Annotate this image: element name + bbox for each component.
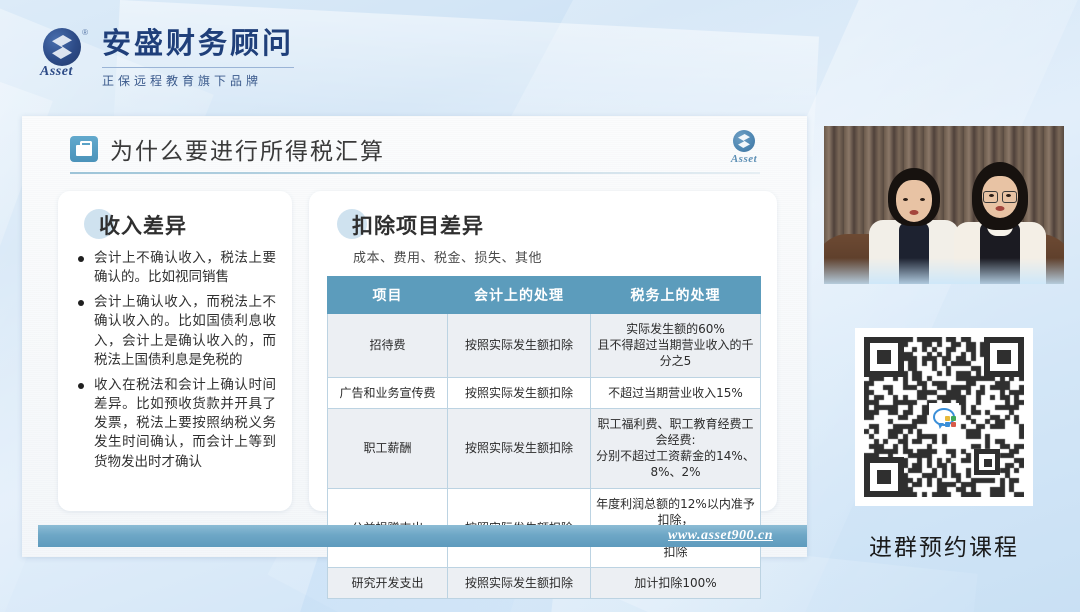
presenter-face — [896, 180, 932, 222]
pinwheel-icon — [43, 28, 81, 66]
column-header: 会计上的处理 — [448, 277, 591, 314]
brand-text-block: 安盛财务顾问 正保远程教育旗下品牌 — [102, 20, 294, 89]
qr-finder-top-right — [984, 337, 1024, 377]
table-row: 职工薪酬 按照实际发生额扣除 职工福利费、职工教育经费工会经费:分别不超过工资薪… — [328, 408, 761, 488]
glasses-icon — [982, 191, 1018, 202]
brand-chinese-name: 安盛财务顾问 — [102, 20, 294, 62]
mouth-icon — [996, 206, 1005, 211]
right-card-heading: 扣除项目差异 — [327, 214, 484, 238]
list-item: 收入在税法和会计上确认时间差异。比如预收货款并开具了发票，税法上要按照纳税义务发… — [74, 376, 276, 472]
cell-tax: 职工福利费、职工教育经费工会经费:分别不超过工资薪金的14%、8%、2% — [591, 408, 761, 488]
cell-tax: 实际发生额的60%且不得超过当期营业收入的千分之5 — [591, 314, 761, 378]
presenter-video[interactable] — [824, 126, 1064, 284]
brand-logo: ® Asset — [40, 28, 86, 80]
color-dots-icon — [945, 416, 956, 427]
qr-finder-bottom-left — [864, 457, 904, 497]
column-header: 项目 — [328, 277, 448, 314]
eye-icon — [903, 198, 908, 201]
slide-footer-bar: www.asset900.cn — [38, 525, 807, 547]
video-bottom-glow — [824, 258, 1064, 284]
qr-code[interactable] — [855, 328, 1033, 506]
card-heading-row: 扣除项目差异 — [327, 209, 761, 243]
cell-accounting: 按照实际发生额扣除 — [448, 377, 591, 408]
table-row: 广告和业务宣传费 按照实际发生额扣除 不超过当期营业收入15% — [328, 377, 761, 408]
briefcase-icon — [70, 136, 98, 162]
eye-icon — [920, 198, 925, 201]
title-underline — [70, 172, 760, 174]
brand-latin-name: Asset — [40, 64, 73, 80]
chat-bubble-icon — [933, 408, 955, 426]
right-card-subtitle: 成本、费用、税金、损失、其他 — [327, 247, 761, 266]
footer-url[interactable]: www.asset900.cn — [668, 525, 773, 547]
column-header: 税务上的处理 — [591, 277, 761, 314]
cell-accounting: 按照实际发生额扣除 — [448, 568, 591, 599]
qr-center-logo — [929, 403, 959, 431]
presentation-slide: 为什么要进行所得税汇算 Asset 收入差异 会计上不确认收入，税法上要确认的。… — [22, 116, 807, 557]
qr-alignment-pattern — [974, 449, 1000, 475]
qr-caption: 进群预约课程 — [824, 528, 1064, 562]
registered-mark: ® — [82, 28, 88, 37]
slide-title: 为什么要进行所得税汇算 — [110, 132, 385, 166]
brand-divider — [102, 67, 294, 68]
cell-tax: 不超过当期营业收入15% — [591, 377, 761, 408]
brand-header: ® Asset 安盛财务顾问 正保远程教育旗下品牌 — [0, 0, 1080, 108]
cell-tax: 加计扣除100% — [591, 568, 761, 599]
table-body: 招待费 按照实际发生额扣除 实际发生额的60%且不得超过当期营业收入的千分之5 … — [328, 314, 761, 599]
deduction-table: 项目 会计上的处理 税务上的处理 招待费 按照实际发生额扣除 实际发生额的60%… — [327, 276, 761, 599]
income-difference-bullets: 会计上不确认收入，税法上要确认的。比如视同销售 会计上确认收入，而税法上不确认收… — [74, 249, 276, 472]
cell-item: 职工薪酬 — [328, 408, 448, 488]
slide-title-row: 为什么要进行所得税汇算 — [70, 127, 787, 171]
slide-content: 收入差异 会计上不确认收入，税法上要确认的。比如视同销售 会计上确认收入，而税法… — [58, 191, 777, 511]
cell-accounting: 按照实际发生额扣除 — [448, 314, 591, 378]
table-row: 研究开发支出 按照实际发生额扣除 加计扣除100% — [328, 568, 761, 599]
qr-matrix — [864, 337, 1024, 497]
income-difference-card: 收入差异 会计上不确认收入，税法上要确认的。比如视同销售 会计上确认收入，而税法… — [58, 191, 292, 511]
slide-corner-logo-text: Asset — [717, 153, 771, 165]
cell-item: 广告和业务宣传费 — [328, 377, 448, 408]
table-header-row: 项目 会计上的处理 税务上的处理 — [328, 277, 761, 314]
cell-item: 研究开发支出 — [328, 568, 448, 599]
deduction-difference-card: 扣除项目差异 成本、费用、税金、损失、其他 项目 会计上的处理 税务上的处理 招… — [309, 191, 777, 511]
list-item: 会计上确认收入，而税法上不确认收入的。比如国债利息收入，会计上是确认收入的，而税… — [74, 293, 276, 370]
card-heading-row: 收入差异 — [74, 209, 276, 243]
cell-item: 招待费 — [328, 314, 448, 378]
table-row: 招待费 按照实际发生额扣除 实际发生额的60%且不得超过当期营业收入的千分之5 — [328, 314, 761, 378]
cell-accounting: 按照实际发生额扣除 — [448, 408, 591, 488]
presenter-face — [982, 176, 1018, 218]
slide-corner-logo: Asset — [717, 130, 771, 165]
mouth-icon — [910, 210, 919, 215]
pinwheel-icon — [733, 130, 755, 152]
brand-tagline: 正保远程教育旗下品牌 — [102, 72, 294, 89]
list-item: 会计上不确认收入，税法上要确认的。比如视同销售 — [74, 249, 276, 287]
qr-finder-top-left — [864, 337, 904, 377]
left-card-heading: 收入差异 — [74, 214, 187, 238]
